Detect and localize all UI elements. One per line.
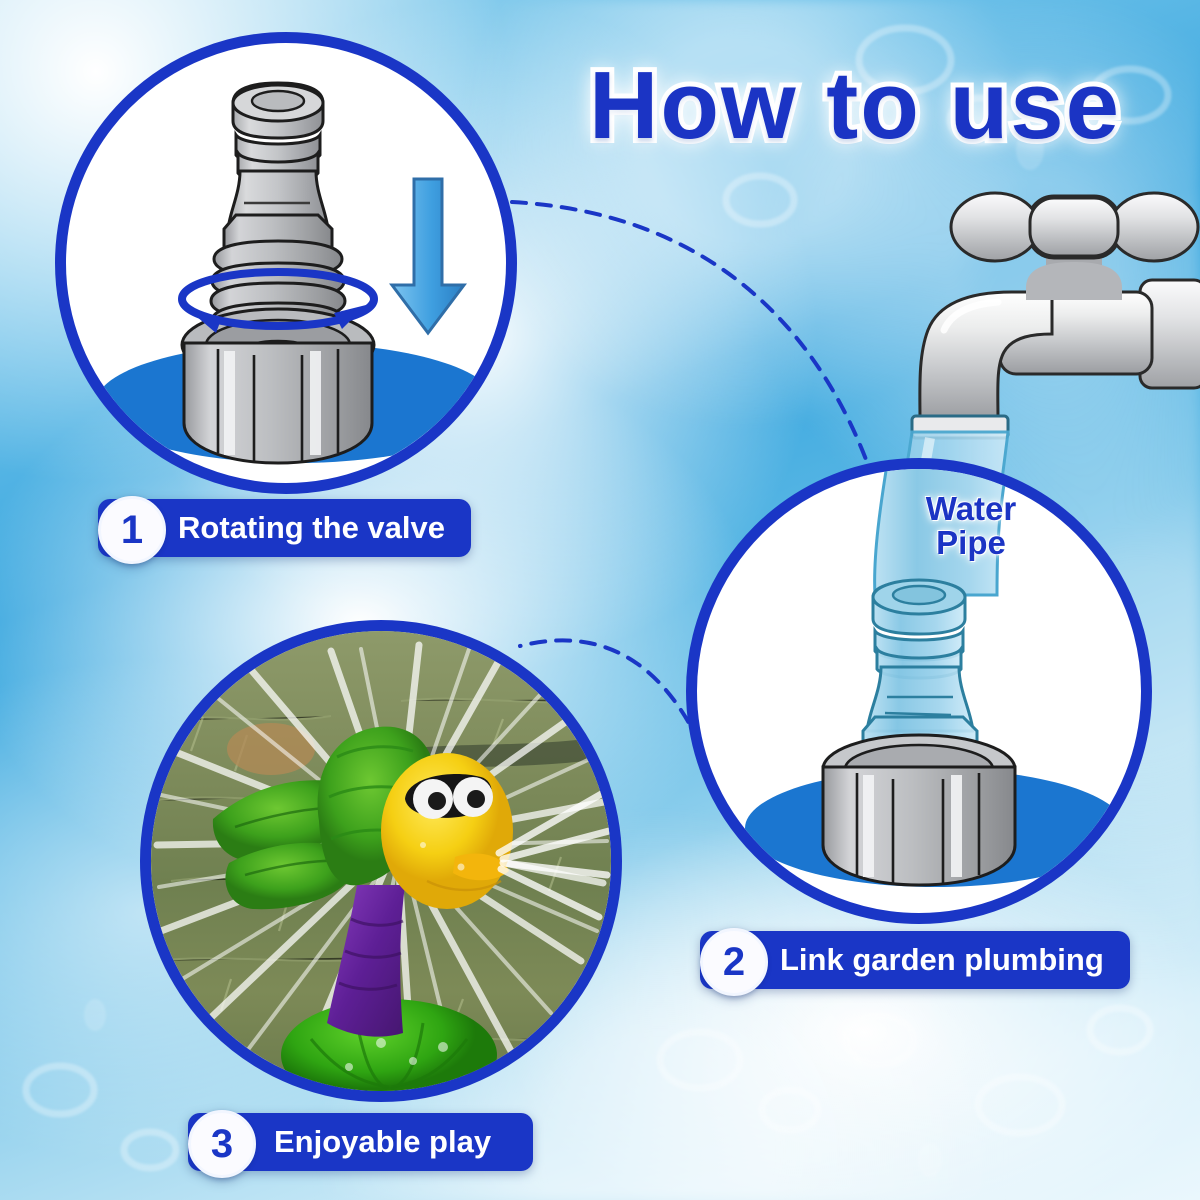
step-3-label-text: Enjoyable play: [274, 1124, 491, 1160]
down-arrow-icon: [384, 173, 474, 353]
step-2-label-text: Link garden plumbing: [780, 942, 1104, 978]
step-2-label: Link garden plumbing 2: [700, 930, 1130, 990]
water-pipe-label-line2: Pipe: [896, 526, 1046, 560]
step-1-number-badge: 1: [98, 496, 166, 564]
step-2-number-badge: 2: [700, 928, 768, 996]
step-1-label-text: Rotating the valve: [178, 510, 445, 546]
sprinkler-toy-photo: [151, 631, 613, 1093]
water-pipe-label: Water Pipe: [896, 492, 1046, 559]
step-3-label: Enjoyable play 3: [188, 1112, 533, 1172]
water-pipe-label-line1: Water: [896, 492, 1046, 526]
step-3-photo-circle: [140, 620, 622, 1102]
step-1-illustration-circle: [55, 32, 517, 494]
infographic-canvas: How to use: [0, 0, 1200, 1200]
step-3-number-badge: 3: [188, 1110, 256, 1178]
step-1-label: Rotating the valve 1: [98, 498, 471, 558]
